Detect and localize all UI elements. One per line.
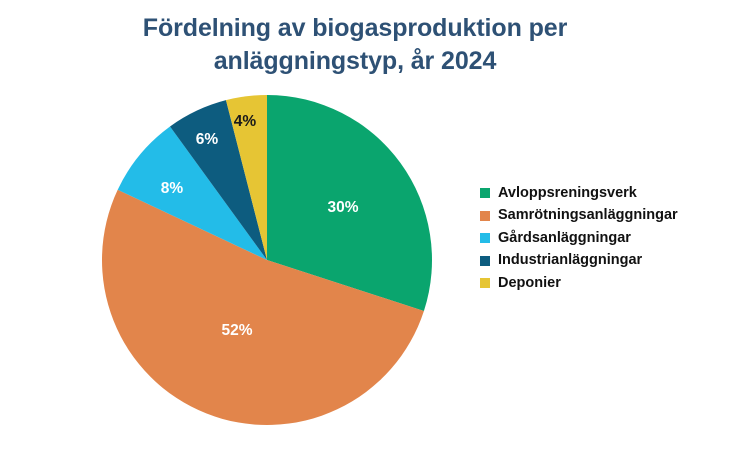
legend-item[interactable]: Gårdsanläggningar	[480, 227, 745, 249]
legend-item-label: Gårdsanläggningar	[498, 231, 631, 246]
legend-item-label: Industrianläggningar	[498, 253, 642, 268]
legend-item-label: Deponier	[498, 276, 561, 291]
legend-item-label: Avloppsreningsverk	[498, 186, 637, 201]
pie-slice-group	[102, 95, 432, 425]
legend-item[interactable]: Samrötningsanläggningar	[480, 205, 745, 227]
legend-color-swatch-icon	[480, 256, 490, 266]
legend-color-swatch-icon	[480, 278, 490, 288]
pie-chart-figure: Fördelning av biogasproduktion per anläg…	[0, 0, 750, 452]
legend-item-label: Samrötningsanläggningar	[498, 208, 678, 223]
chart-legend: AvloppsreningsverkSamrötningsanläggninga…	[480, 182, 745, 295]
legend-item[interactable]: Industrianläggningar	[480, 250, 745, 272]
pie-plot-area: 30%52%8%6%4%	[0, 0, 470, 452]
pie-svg	[0, 0, 470, 452]
legend-item[interactable]: Avloppsreningsverk	[480, 182, 745, 204]
legend-color-swatch-icon	[480, 233, 490, 243]
legend-item[interactable]: Deponier	[480, 272, 745, 294]
legend-color-swatch-icon	[480, 211, 490, 221]
legend-color-swatch-icon	[480, 188, 490, 198]
